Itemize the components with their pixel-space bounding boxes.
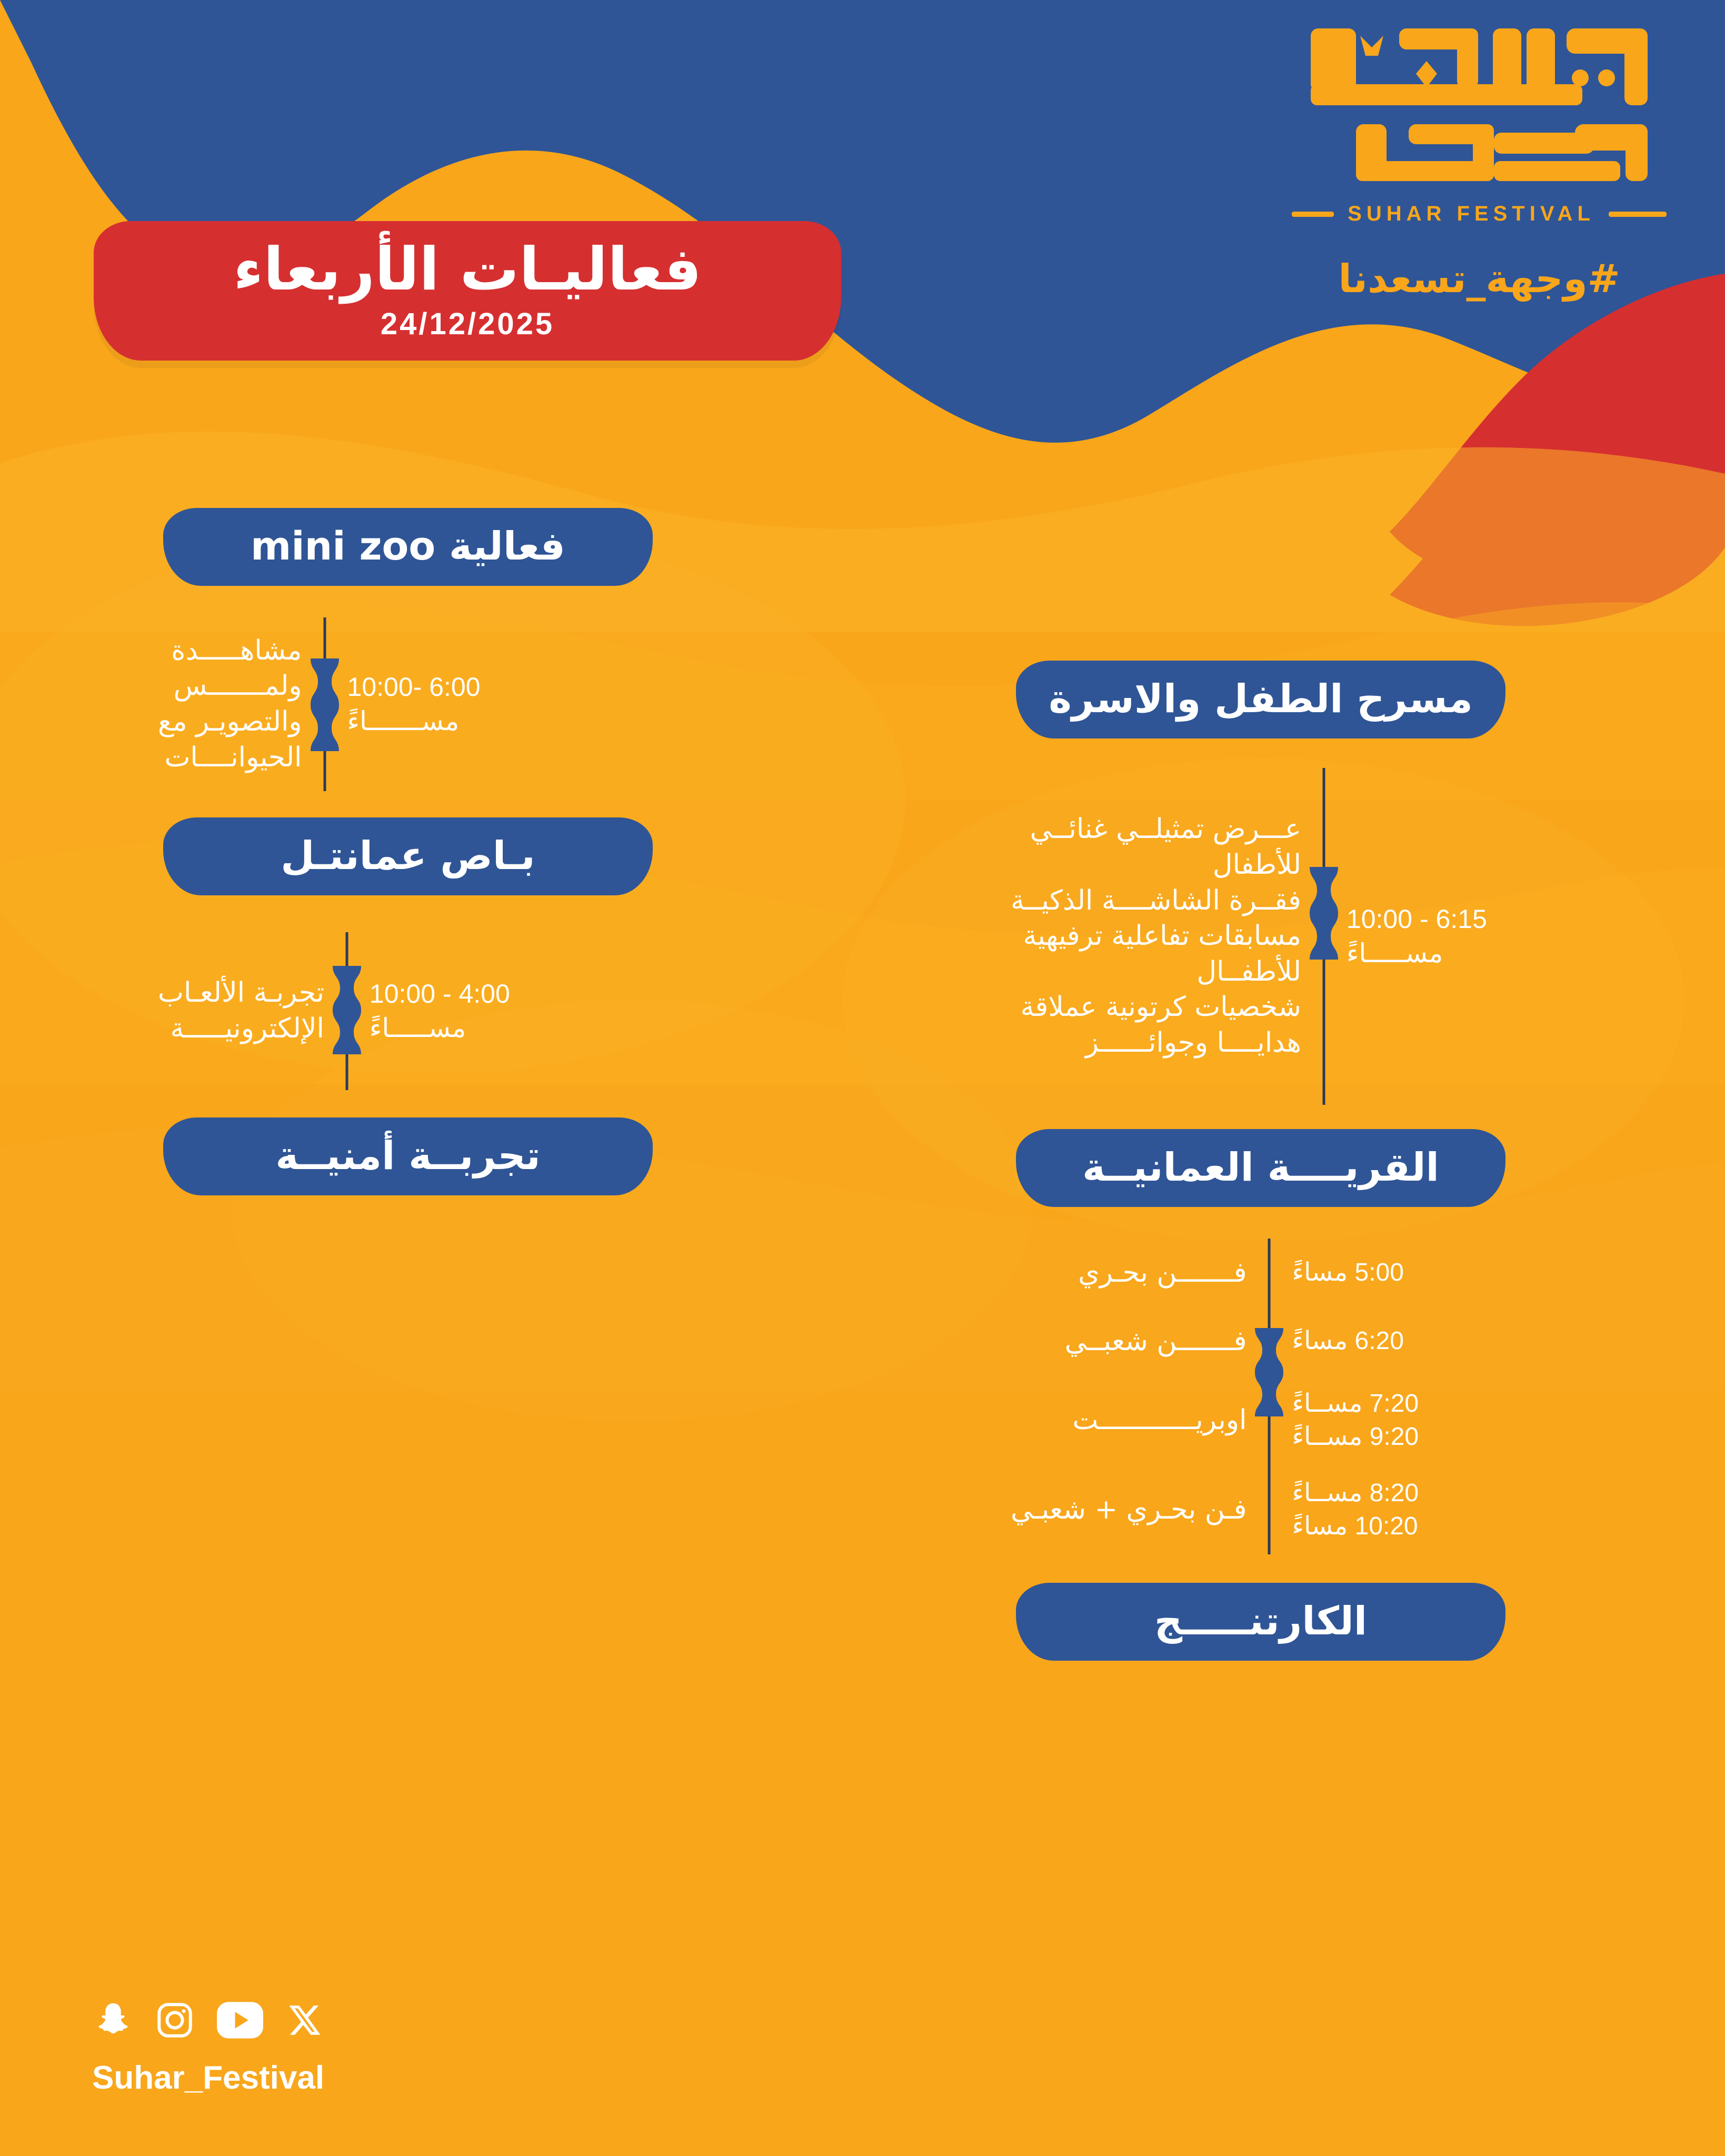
time-line: مســـــــاءً <box>347 704 481 738</box>
title-banner: فعاليـات الأربعاء 24/12/2025 <box>94 221 841 361</box>
right-events-column: مسرح الطفل والاسرة عـــرض تمثيلــي غنائـ… <box>1011 661 1505 1661</box>
time-line: 6:20 مساءً <box>1292 1324 1419 1358</box>
logo-subtitle-row: SUHAR FESTIVAL <box>1292 202 1667 226</box>
table-row: فـن بحـري + شعبـي <box>1011 1465 1247 1554</box>
youtube-icon[interactable] <box>217 2001 263 2040</box>
desc-line: الإلكترونيـــــة <box>158 1011 324 1047</box>
logo-rule-right <box>1292 212 1334 217</box>
village-performance-times: 5:00 مساءً 6:20 مساءً 7:20 مســاءً 9:20 … <box>1292 1239 1419 1554</box>
poster-canvas: SUHAR FESTIVAL #وجهة_تسعدنا فعاليـات الأ… <box>0 0 1725 2156</box>
event-time-mini-zoo: 6:00 -10:00 مســـــــاءً <box>347 670 481 738</box>
squiggle-divider <box>302 617 347 791</box>
event-body-child-family-theatre: عـــرض تمثيلــي غنائــي للأطفال فقــرة ا… <box>1011 768 1505 1105</box>
section-header-mini-zoo[interactable]: فعالية mini zoo <box>163 508 653 586</box>
village-performance-names: فـــــــن بحـري فـــــــن شعبــي اوبريــ… <box>1011 1239 1247 1554</box>
desc-line: مسابقات تفاعلية ترفيهية <box>1011 919 1301 954</box>
event-body-mini-zoo: مشاهـــــدة ولمـــــــس والتصويـر مع الح… <box>158 617 653 791</box>
section-header-omantel-bus[interactable]: بـاص عمانتـل <box>163 817 653 895</box>
table-row: اوبريــــــــــــت <box>1011 1375 1247 1465</box>
time-line: مســـــاءً <box>1347 936 1487 971</box>
logo-subtitle: SUHAR FESTIVAL <box>1348 202 1595 226</box>
footer: Suhar_Festival <box>92 2000 324 2097</box>
event-description-omantel-bus: تجربـة الألعـاب الإلكترونيـــــة <box>158 975 324 1046</box>
festival-wordmark-icon <box>1305 21 1653 195</box>
table-row: فـــــــن بحـري <box>1011 1239 1247 1307</box>
time-line: 5:00 مساءً <box>1292 1256 1419 1289</box>
time-line: 4:00 - 10:00 <box>370 977 510 1011</box>
time-line: 6:15 - 10:00 <box>1347 902 1487 936</box>
omani-village-schedule: فـــــــن بحـري فـــــــن شعبــي اوبريــ… <box>1011 1239 1505 1554</box>
section-header-security-experience[interactable]: تجربــة أمنيــة <box>163 1117 653 1195</box>
page-title: فعاليـات الأربعاء <box>233 240 702 299</box>
time-line: مســـــاءً <box>370 1011 510 1045</box>
instagram-icon[interactable] <box>155 2000 195 2040</box>
time-line: 8:20 مســاءً <box>1292 1476 1419 1510</box>
squiggle-divider <box>324 932 370 1090</box>
time-line: 7:20 مســاءً <box>1292 1387 1419 1420</box>
event-description-mini-zoo: مشاهـــــدة ولمـــــــس والتصويـر مع الح… <box>158 633 302 775</box>
table-row: 8:20 مســاءً 10:20 مساءً <box>1292 1465 1419 1554</box>
time-line: 9:20 مســاءً <box>1292 1420 1419 1453</box>
snapchat-icon[interactable] <box>94 2000 133 2040</box>
section-header-karting[interactable]: الكارتنـــــج <box>1016 1583 1505 1661</box>
desc-line: فقــرة الشاشــــة الذكيــة <box>1011 883 1301 919</box>
x-twitter-icon[interactable] <box>285 2001 324 2040</box>
social-links-row <box>92 2000 324 2040</box>
table-row: 6:20 مساءً <box>1292 1307 1419 1375</box>
desc-line: هدايــــا وجوائــــــز <box>1011 1025 1301 1061</box>
desc-line: تجربـة الألعـاب <box>158 975 324 1011</box>
desc-line: مشاهـــــدة <box>158 633 302 669</box>
desc-line: ولمـــــــس <box>158 668 302 704</box>
logo-rule-left <box>1609 212 1667 217</box>
squiggle-divider <box>1301 768 1347 1105</box>
time-line: 10:20 مساءً <box>1292 1510 1419 1543</box>
festival-hashtag: #وجهة_تسعدنا <box>1338 256 1620 302</box>
festival-logo: SUHAR FESTIVAL #وجهة_تسعدنا <box>1279 21 1679 302</box>
left-events-column: فعالية mini zoo مشاهـــــدة ولمـــــــس … <box>158 508 653 1195</box>
event-description-child-family-theatre: عـــرض تمثيلــي غنائــي للأطفال فقــرة ا… <box>1011 812 1301 1061</box>
page-date: 24/12/2025 <box>381 306 554 342</box>
section-header-child-family-theatre[interactable]: مسرح الطفل والاسرة <box>1016 661 1505 738</box>
desc-line: عـــرض تمثيلــي غنائــي <box>1011 812 1301 847</box>
desc-line: الحيوانــــات <box>158 740 302 776</box>
section-header-omani-village[interactable]: القريــــة العمانيــة <box>1016 1129 1505 1207</box>
social-handle: Suhar_Festival <box>92 2059 324 2097</box>
desc-line: للأطفال <box>1011 847 1301 883</box>
event-body-omantel-bus: تجربـة الألعـاب الإلكترونيـــــة 4:00 - … <box>158 932 653 1090</box>
event-time-child-family-theatre: 6:15 - 10:00 مســـــاءً <box>1347 902 1487 971</box>
desc-line: للأطفــال <box>1011 954 1301 990</box>
time-line: 6:00 -10:00 <box>347 670 481 704</box>
table-row: فـــــــن شعبــي <box>1011 1307 1247 1375</box>
table-row: 7:20 مســاءً 9:20 مســاءً <box>1292 1375 1419 1465</box>
event-time-omantel-bus: 4:00 - 10:00 مســـــاءً <box>370 977 510 1045</box>
squiggle-divider <box>1247 1239 1292 1554</box>
desc-line: والتصويـر مع <box>158 704 302 740</box>
desc-line: شخصيات كرتونية عملاقة <box>1011 990 1301 1025</box>
table-row: 5:00 مساءً <box>1292 1239 1419 1307</box>
